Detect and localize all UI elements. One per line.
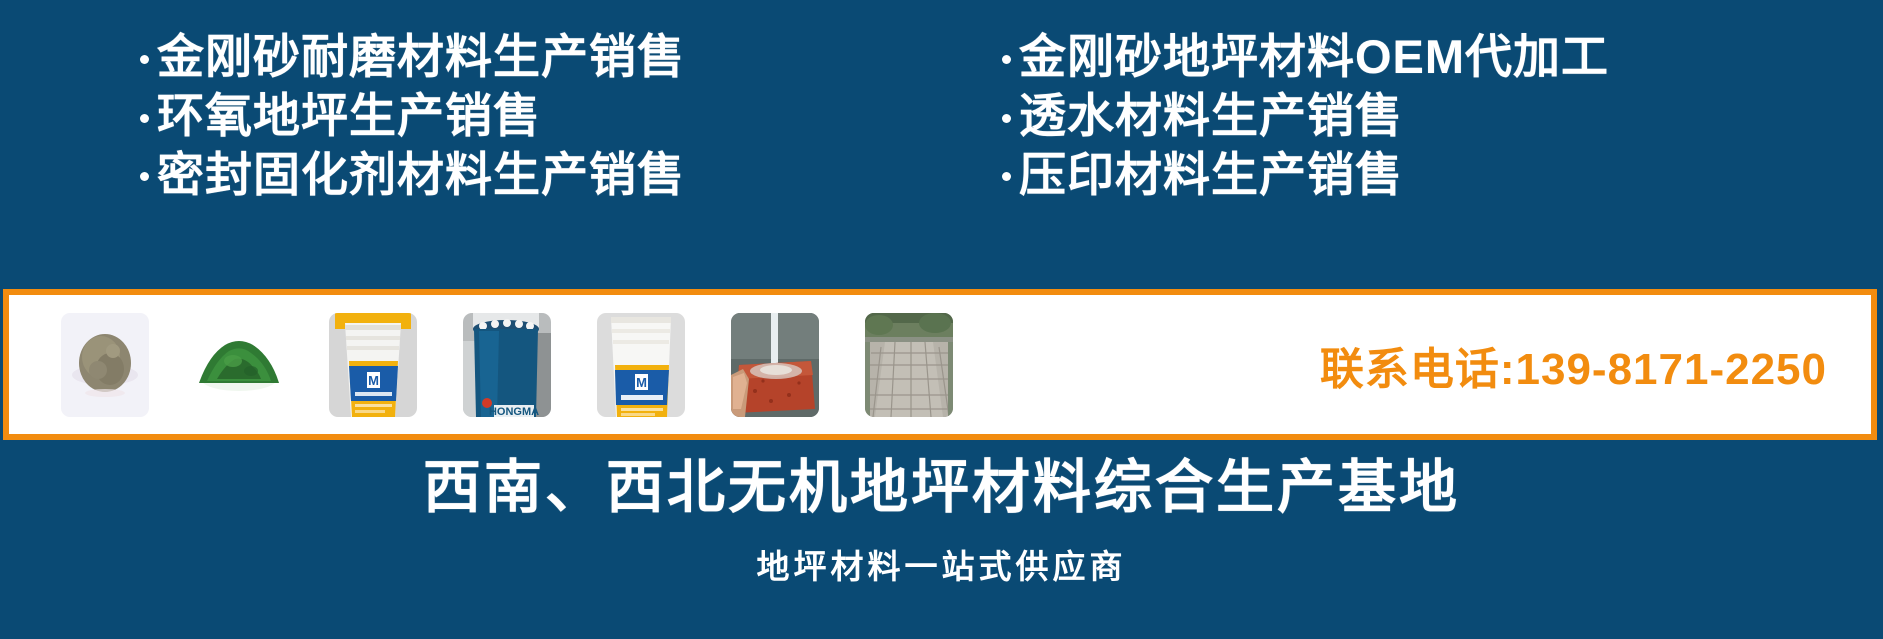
feature-label: 环氧地坪生产销售 [157,87,541,146]
product-thumb-grey-abrasive-powder[interactable] [61,313,149,417]
feature-item: 透水材料生产销售 [1002,87,1782,146]
bottom-title-section: 西南、西北无机地坪材料综合生产基地 地坪材料一站式供应商 [0,455,1883,588]
product-thumb-green-abrasive-powder[interactable] [195,313,283,417]
bullet-dot-icon [1002,55,1011,64]
bullet-dot-icon [140,114,149,123]
promo-banner: 金刚砂耐磨材料生产销售 环氧地坪生产销售 密封固化剂材料生产销售 金刚砂地坪材料… [0,0,1883,639]
product-thumb-concrete-sealer-bucket[interactable]: M [329,313,417,417]
feature-label: 密封固化剂材料生产销售 [157,146,685,205]
feature-label: 金刚砂地坪材料OEM代加工 [1019,28,1609,87]
svg-text:HONGMA: HONGMA [489,406,539,417]
feature-item: 金刚砂地坪材料OEM代加工 [1002,28,1782,87]
bullet-dot-icon [1002,114,1011,123]
bullet-dot-icon [140,172,149,181]
feature-item: 压印材料生产销售 [1002,146,1782,205]
product-thumb-stamped-concrete-walkway[interactable] [865,313,953,417]
product-thumb-blue-drum-hongma[interactable]: HONGMA [463,313,551,417]
feature-item: 金刚砂耐磨材料生产销售 [140,28,880,87]
feature-column-left: 金刚砂耐磨材料生产销售 环氧地坪生产销售 密封固化剂材料生产销售 [140,28,880,233]
product-thumbnail-strip: M [61,313,953,417]
bullet-dot-icon [1002,172,1011,181]
product-showcase-band: M [3,289,1877,440]
feature-label: 压印材料生产销售 [1019,146,1403,205]
product-thumb-epoxy-floor-paint-bucket[interactable]: M [597,313,685,417]
feature-item: 密封固化剂材料生产销售 [140,146,880,205]
feature-label: 金刚砂耐磨材料生产销售 [157,28,685,87]
sub-headline: 地坪材料一站式供应商 [0,540,1883,588]
feature-item: 环氧地坪生产销售 [140,87,880,146]
main-headline: 西南、西北无机地坪材料综合生产基地 [0,455,1883,522]
svg-text:M: M [368,373,379,388]
svg-text:M: M [636,375,647,390]
product-thumb-permeable-red-paving-sample[interactable] [731,313,819,417]
feature-column-right: 金刚砂地坪材料OEM代加工 透水材料生产销售 压印材料生产销售 [1002,28,1782,233]
feature-list-section: 金刚砂耐磨材料生产销售 环氧地坪生产销售 密封固化剂材料生产销售 金刚砂地坪材料… [0,28,1883,233]
bullet-dot-icon [140,55,149,64]
contact-phone-number[interactable]: 联系电话:139-8171-2250 [1320,333,1827,397]
feature-label: 透水材料生产销售 [1019,87,1403,146]
